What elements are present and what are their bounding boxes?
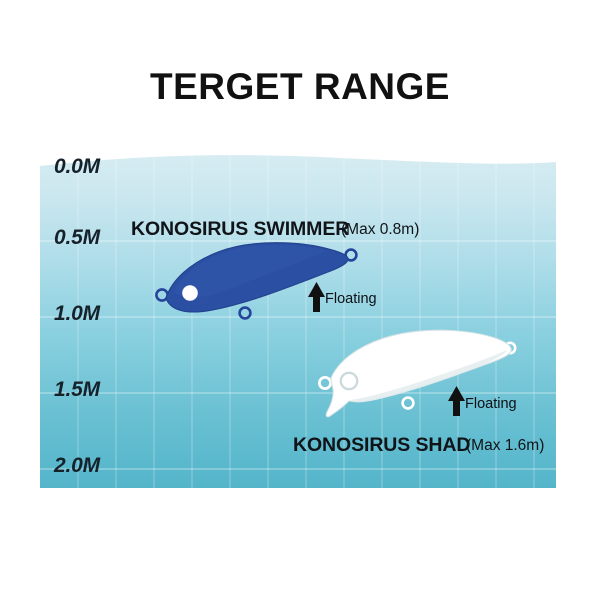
depth-label-1: 0.5M: [54, 226, 100, 250]
page-title: TERGET RANGE: [0, 66, 600, 108]
lure-eye: [182, 285, 198, 301]
depth-label-4: 2.0M: [54, 454, 100, 478]
lure-max-depth-swimmer: (Max 0.8m): [341, 221, 419, 239]
depth-label-3: 1.5M: [54, 378, 100, 402]
water-depth-panel: [40, 110, 556, 488]
lure-max-depth-shad: (Max 1.6m): [466, 437, 544, 455]
lure-name-shad: KONOSIRUS SHAD: [293, 434, 470, 457]
floating-label-swimmer: Floating: [325, 291, 377, 307]
water-graphic: [40, 110, 556, 488]
depth-label-0: 0.0M: [54, 155, 100, 179]
floating-label-shad: Floating: [465, 396, 517, 412]
infographic-canvas: TERGET RANGE: [0, 0, 600, 600]
depth-label-2: 1.0M: [54, 302, 100, 326]
lure-name-swimmer: KONOSIRUS SWIMMER: [131, 218, 349, 241]
